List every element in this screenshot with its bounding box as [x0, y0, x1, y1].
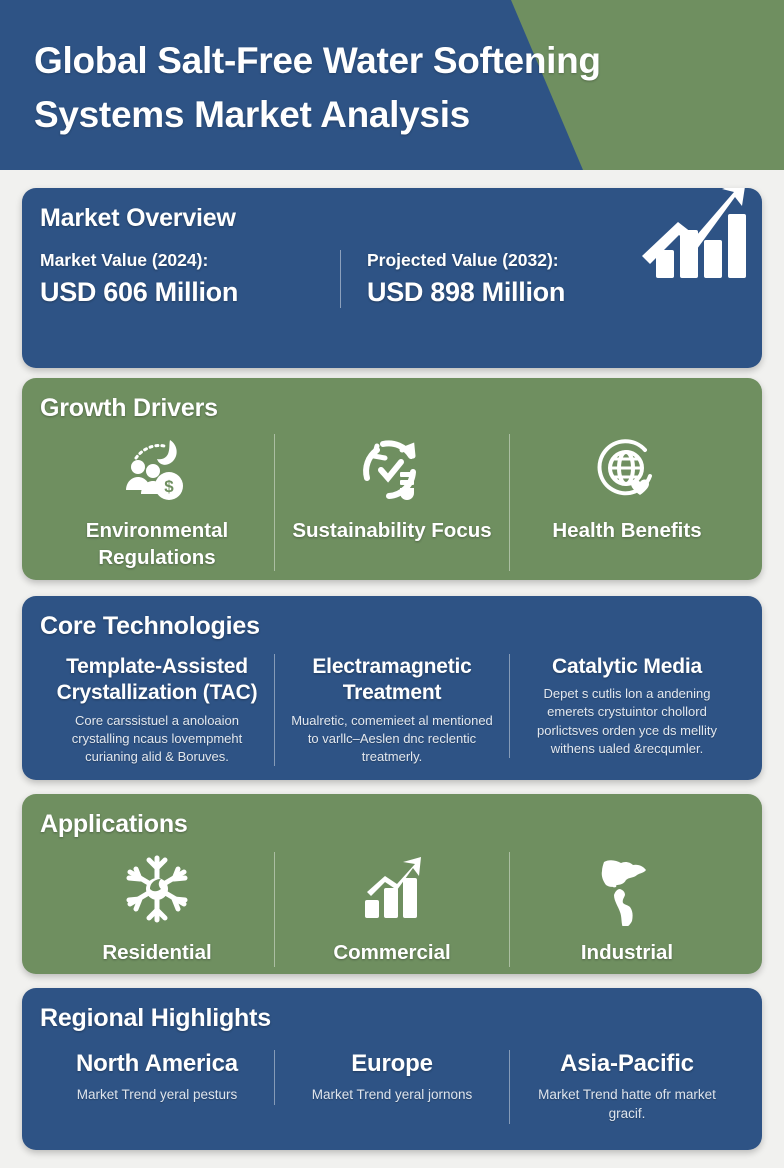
recycle-check-bulb-icon — [355, 434, 429, 508]
region-asia-pacific: Asia-Pacific Market Trend hatte ofr mark… — [509, 1050, 744, 1124]
americas-map-icon — [590, 852, 664, 926]
metric-market-value: Market Value (2024): USD 606 Million — [40, 250, 340, 308]
technology-description: Mualretic, comemieet al mentioned to var… — [289, 712, 495, 767]
technology-name: Template-Assisted Crystallization (TAC) — [57, 654, 258, 707]
metric-label: Projected Value (2032): — [367, 250, 632, 271]
snowflake-crystal-icon — [120, 852, 194, 926]
region-description: Market Trend yeral pesturs — [77, 1086, 238, 1105]
technology-tac: Template-Assisted Crystallization (TAC) … — [40, 654, 274, 766]
technology-name: Catalytic Media — [552, 654, 702, 680]
growth-drivers-title: Growth Drivers — [40, 394, 762, 423]
region-name: North America — [76, 1050, 238, 1078]
technology-electromagnetic-treatment: Electramagnetic Treatment Mualretic, com… — [274, 654, 509, 766]
technology-description: Core carssistuel a anoloaion crystalling… — [54, 712, 260, 767]
application-residential: Residential — [40, 852, 274, 967]
region-description: Market Trend yeral jornons — [312, 1086, 473, 1105]
market-overview-panel: Market Overview Market Value (2024): USD… — [22, 188, 762, 368]
driver-label: Health Benefits — [552, 518, 701, 545]
application-industrial: Industrial — [509, 852, 744, 967]
driver-health-benefits: Health Benefits — [509, 434, 744, 571]
region-description: Market Trend hatte ofr market gracif. — [520, 1086, 734, 1124]
applications-panel: Applications Residential — [22, 794, 762, 974]
growth-drivers-panel: Growth Drivers $ Environmental Regul — [22, 378, 762, 580]
svg-text:$: $ — [164, 477, 174, 496]
driver-label: Environmental Regulations — [86, 518, 228, 571]
metric-projected-value: Projected Value (2032): USD 898 Million — [340, 250, 640, 308]
core-technologies-panel: Core Technologies Template-Assisted Crys… — [22, 596, 762, 780]
applications-title: Applications — [40, 810, 762, 839]
application-label: Commercial — [333, 940, 450, 967]
header-banner: Global Salt-Free Water Softening Systems… — [0, 0, 784, 170]
region-name: Europe — [351, 1050, 432, 1078]
technology-name: Electramagnetic Treatment — [312, 654, 471, 707]
application-label: Residential — [102, 940, 211, 967]
region-europe: Europe Market Trend yeral jornons — [274, 1050, 509, 1105]
core-technologies-title: Core Technologies — [40, 612, 762, 641]
region-name: Asia-Pacific — [560, 1050, 694, 1078]
driver-sustainability-focus: Sustainability Focus — [274, 434, 509, 571]
growth-drivers-columns: $ Environmental Regulations — [40, 434, 744, 571]
globe-heart-icon — [590, 434, 664, 508]
applications-columns: Residential Commercial — [40, 852, 744, 967]
region-north-america: North America Market Trend yeral pesturs — [40, 1050, 274, 1105]
people-money-leaf-icon: $ — [120, 434, 194, 508]
bar-chart-arrow-icon — [355, 852, 429, 926]
growth-chart-arrow-icon — [634, 188, 754, 282]
metric-value: USD 606 Million — [40, 277, 332, 308]
application-commercial: Commercial — [274, 852, 509, 967]
page-title: Global Salt-Free Water Softening Systems… — [34, 34, 734, 141]
regional-highlights-panel: Regional Highlights North America Market… — [22, 988, 762, 1150]
metric-label: Market Value (2024): — [40, 250, 332, 271]
driver-label: Sustainability Focus — [292, 518, 491, 545]
technology-description: Depet s cutlis lon a andening emerets cr… — [524, 685, 730, 758]
core-technologies-columns: Template-Assisted Crystallization (TAC) … — [40, 654, 744, 766]
regional-highlights-columns: North America Market Trend yeral pesturs… — [40, 1050, 744, 1124]
driver-environmental-regulations: $ Environmental Regulations — [40, 434, 274, 571]
technology-catalytic-media: Catalytic Media Depet s cutlis lon a and… — [509, 654, 744, 758]
application-label: Industrial — [581, 940, 673, 967]
infographic-page: Global Salt-Free Water Softening Systems… — [0, 0, 784, 1168]
regional-highlights-title: Regional Highlights — [40, 1004, 762, 1033]
metric-value: USD 898 Million — [367, 277, 632, 308]
